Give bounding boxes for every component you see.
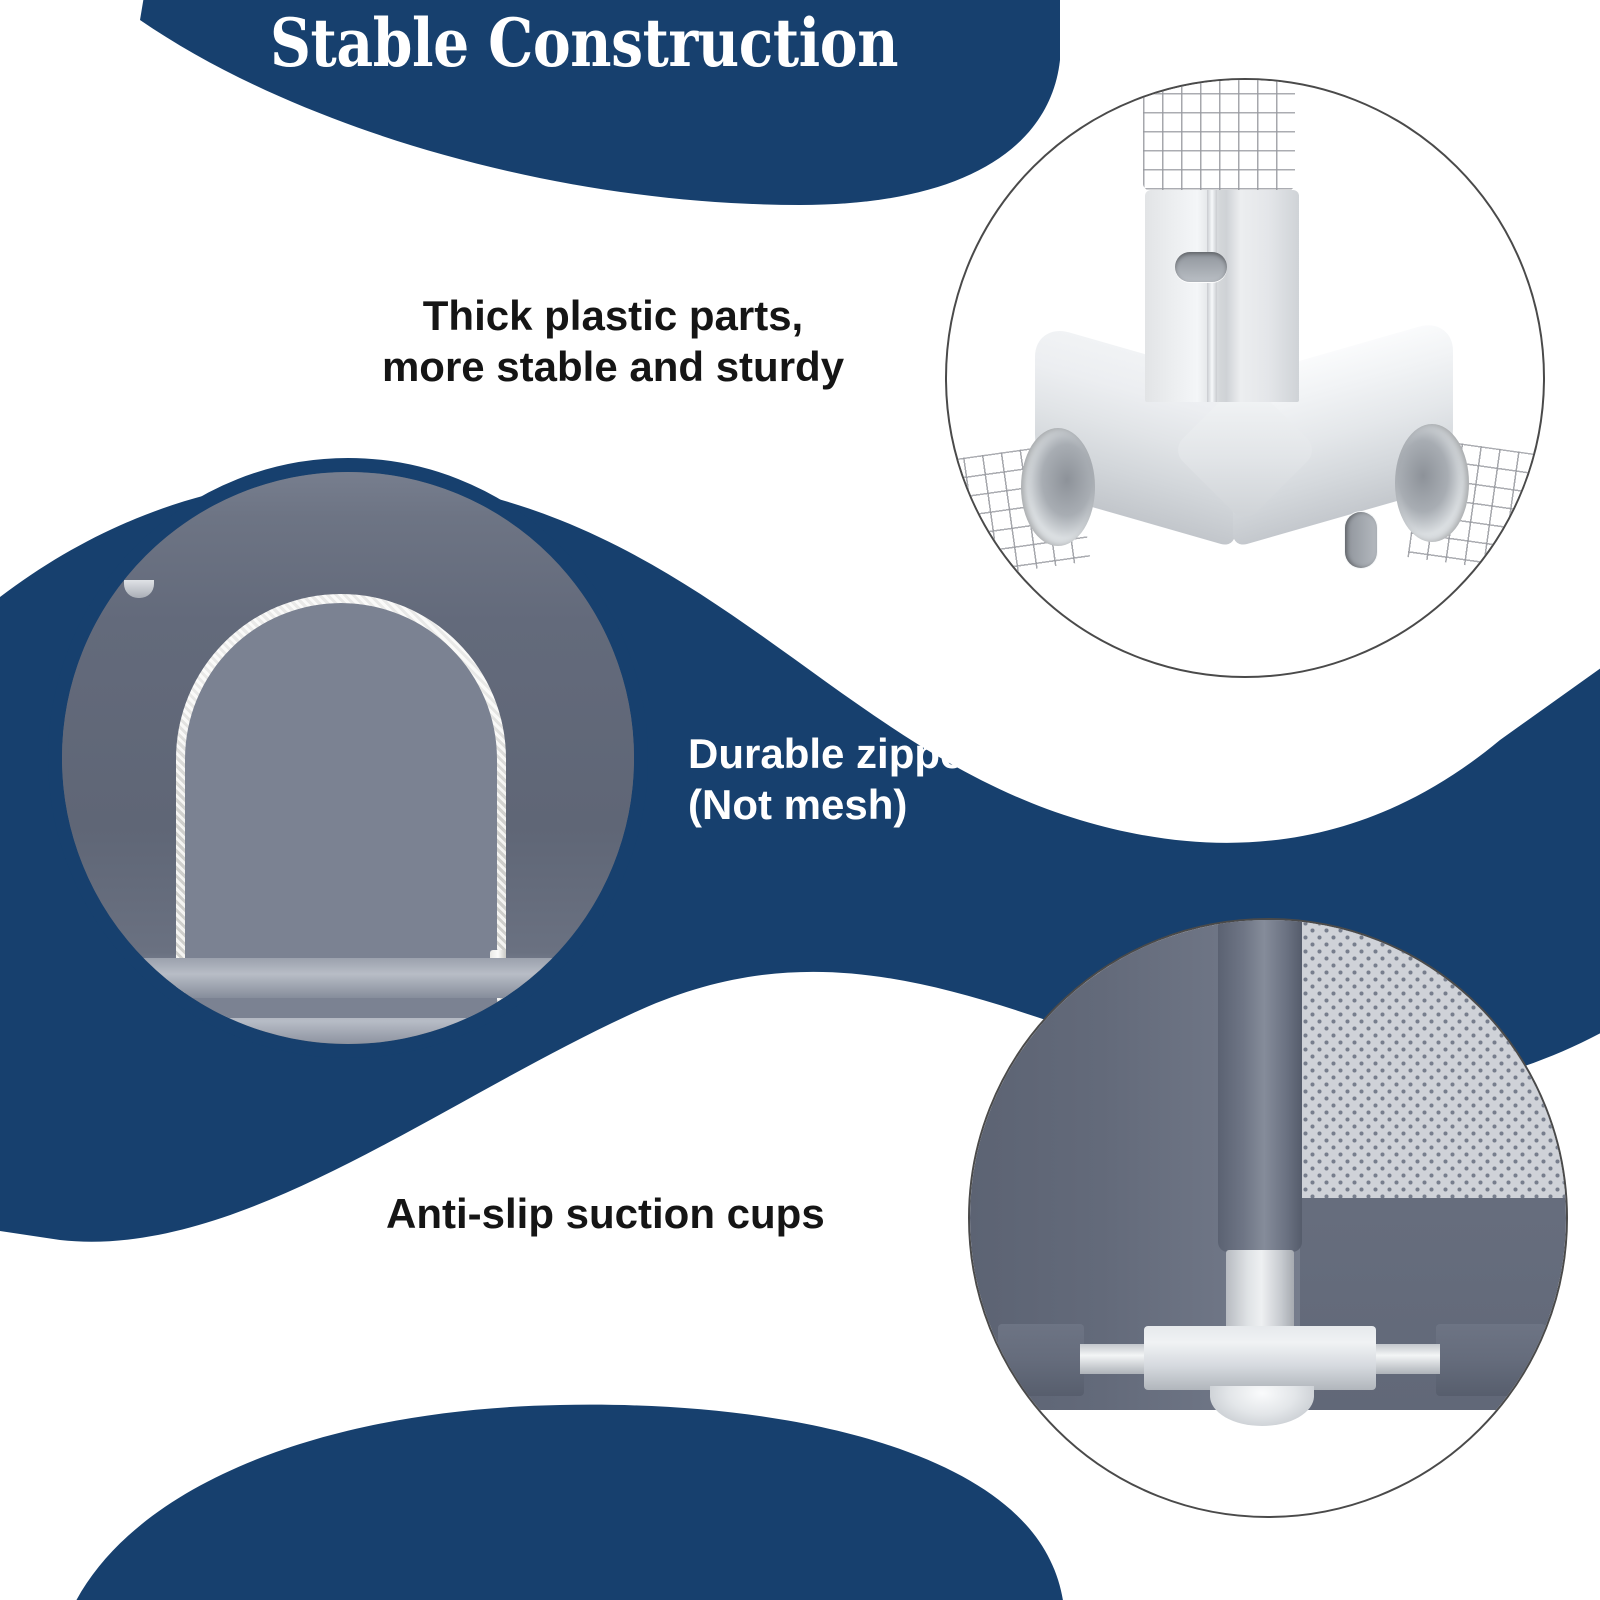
vertical-post (1218, 920, 1302, 1252)
wire-mesh-top (1143, 78, 1295, 202)
connector-slot-horizontal (1345, 512, 1377, 568)
connector-slot-vertical (1175, 252, 1227, 282)
photo-zipper-door (48, 458, 648, 1058)
fabric-sleeve-right (1436, 1324, 1546, 1396)
callout-suction-cups: Anti-slip suction cups (386, 1188, 906, 1239)
page-title: Stable Construction (270, 6, 889, 82)
photo-corner-connector (945, 78, 1545, 678)
base-rail (62, 958, 648, 998)
infographic-canvas: Stable Construction (0, 0, 1600, 1600)
connector-socket-right (1395, 424, 1469, 542)
breathable-mesh-panel (1302, 920, 1568, 1198)
callout-thick-plastic: Thick plastic parts, more stable and stu… (343, 290, 883, 392)
photo-suction-cup (968, 918, 1568, 1518)
connector-arm-vertical (1145, 190, 1299, 402)
connector-ridge (1207, 190, 1217, 402)
footer-blob (40, 1405, 1066, 1600)
frame-rod-left (1080, 1344, 1150, 1374)
zipper-highlight (176, 594, 506, 1018)
callout-zipper-door: Durable zipper door (Not mesh) (688, 728, 1208, 830)
connector-socket-left (1021, 428, 1095, 546)
suction-cup-foot (1210, 1386, 1314, 1426)
fabric-sleeve-left (998, 1324, 1084, 1396)
tee-connector-bar (1144, 1326, 1376, 1390)
frame-rod-right (1370, 1344, 1440, 1374)
